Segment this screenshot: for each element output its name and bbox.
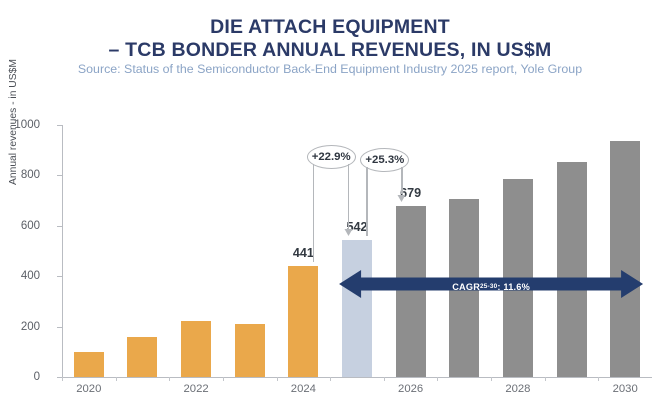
x-tick-label-2028: 2028 xyxy=(505,383,530,395)
callout-stem-right-2026 xyxy=(401,167,402,194)
bar-2030[interactable] xyxy=(610,141,640,377)
y-tick-200 xyxy=(57,327,62,328)
title-line-2: – TCB BONDER ANNUAL REVENUES, IN US$M xyxy=(0,39,660,62)
callout-stem-left-2026 xyxy=(366,167,367,236)
x-tick-2027 xyxy=(437,377,438,381)
cagr-arrow: CAGR25-30: 11.6% xyxy=(335,267,647,306)
y-tick-800 xyxy=(57,175,62,176)
bar-2020[interactable] xyxy=(74,352,104,377)
x-tick-2029 xyxy=(545,377,546,381)
y-tick-label-1000: 1000 xyxy=(0,119,40,131)
x-tick-label-2030: 2030 xyxy=(613,383,638,395)
x-tick-2026 xyxy=(384,377,385,381)
x-tick-2030 xyxy=(598,377,599,381)
callout-arrowhead-2026 xyxy=(397,194,406,202)
x-tick-2021 xyxy=(116,377,117,381)
chart-container: DIE ATTACH EQUIPMENT – TCB BONDER ANNUAL… xyxy=(0,0,660,401)
chart-title: DIE ATTACH EQUIPMENT – TCB BONDER ANNUAL… xyxy=(0,16,660,62)
title-line-1: DIE ATTACH EQUIPMENT xyxy=(0,16,660,39)
plot-area: 02004006008001000 2020202220242026202820… xyxy=(62,125,652,377)
x-tick-2025 xyxy=(330,377,331,381)
x-tick-label-2020: 2020 xyxy=(76,383,101,395)
y-tick-label-0: 0 xyxy=(0,371,40,383)
y-tick-1000 xyxy=(57,125,62,126)
y-tick-400 xyxy=(57,276,62,277)
bar-2022[interactable] xyxy=(181,321,211,377)
bar-value-2024: 441 xyxy=(293,246,314,260)
x-tick-2022 xyxy=(169,377,170,381)
x-tick-2020 xyxy=(62,377,63,381)
x-tick-label-2024: 2024 xyxy=(291,383,316,395)
y-tick-600 xyxy=(57,226,62,227)
y-tick-label-200: 200 xyxy=(0,321,40,333)
y-tick-label-400: 400 xyxy=(0,270,40,282)
x-axis-line xyxy=(58,377,652,378)
bar-2024[interactable] xyxy=(288,266,318,377)
x-tick-2023 xyxy=(223,377,224,381)
callout-arrowhead-2025 xyxy=(344,228,353,236)
x-tick-label-2022: 2022 xyxy=(184,383,209,395)
bar-2021[interactable] xyxy=(127,337,157,377)
bar-2023[interactable] xyxy=(235,324,265,377)
x-tick-label-2026: 2026 xyxy=(398,383,423,395)
x-tick-2024 xyxy=(277,377,278,381)
callout-stem-right-2025 xyxy=(348,164,349,228)
bar-2025[interactable] xyxy=(342,240,372,377)
y-tick-label-600: 600 xyxy=(0,220,40,232)
y-axis-line xyxy=(62,125,63,377)
cagr-arrow-shape xyxy=(335,267,647,301)
y-tick-label-800: 800 xyxy=(0,169,40,181)
chart-source: Source: Status of the Semiconductor Back… xyxy=(0,62,660,76)
callout-stem-left-2025 xyxy=(313,164,314,262)
x-tick-2028 xyxy=(491,377,492,381)
